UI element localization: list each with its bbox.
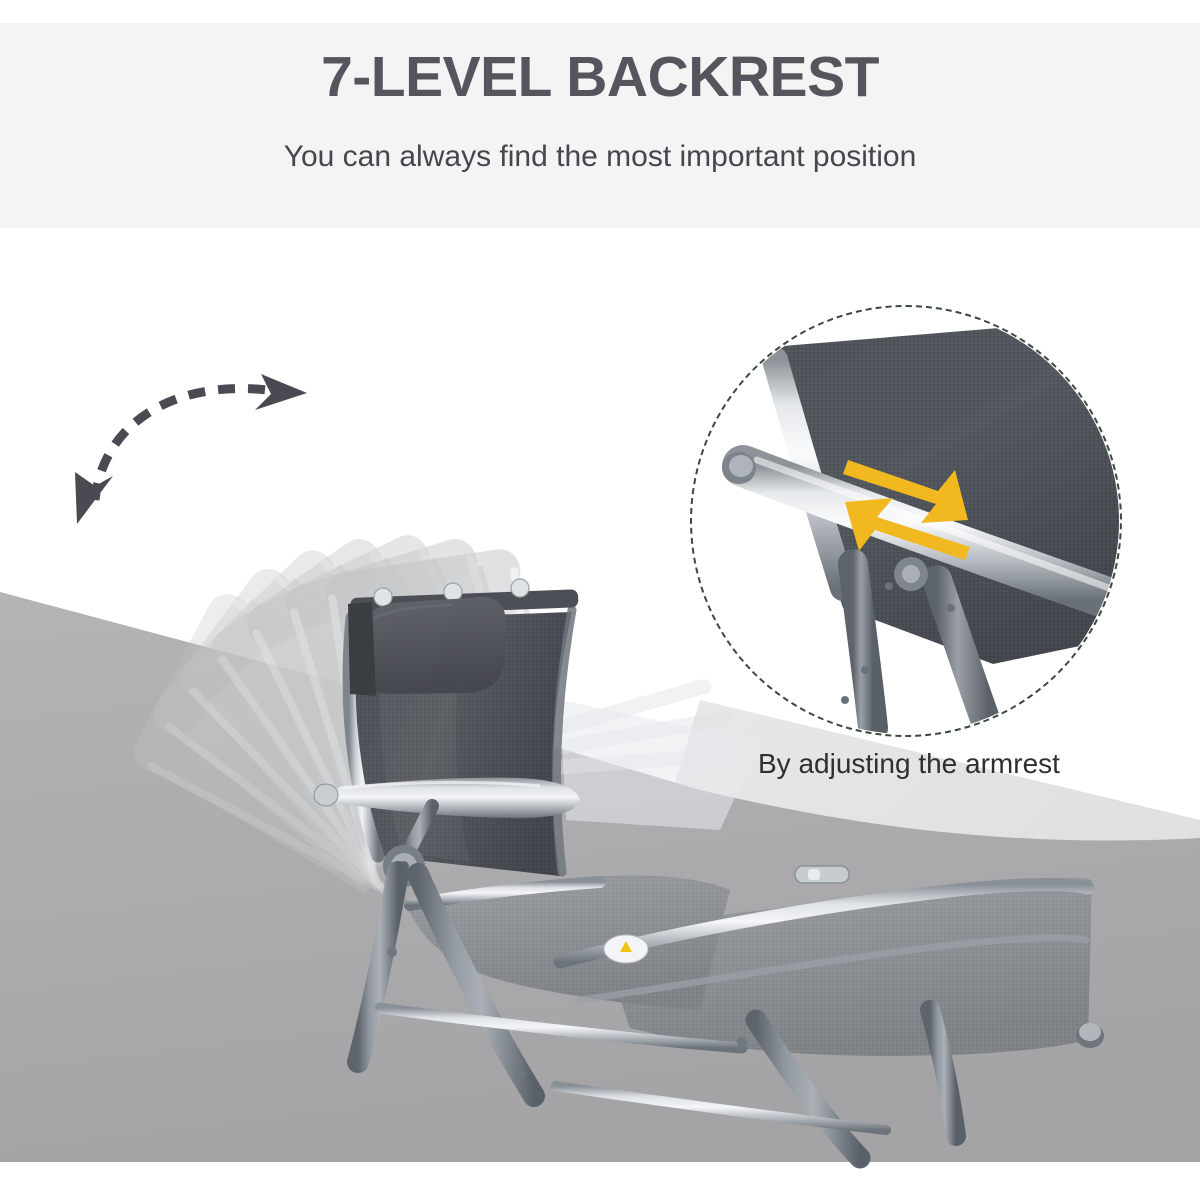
recline-range-arrow <box>55 360 345 530</box>
callout-caption: By adjusting the armrest <box>758 748 1060 780</box>
callout-image <box>693 308 1119 734</box>
armrest-callout <box>690 305 1122 737</box>
infographic-canvas: 7-LEVEL BACKREST You can always find the… <box>0 0 1200 1200</box>
arrowhead-left <box>75 472 113 524</box>
footrest-hinge <box>795 866 849 883</box>
product-label <box>604 935 648 963</box>
headrest-pillow <box>348 597 506 696</box>
backrest <box>348 579 579 876</box>
